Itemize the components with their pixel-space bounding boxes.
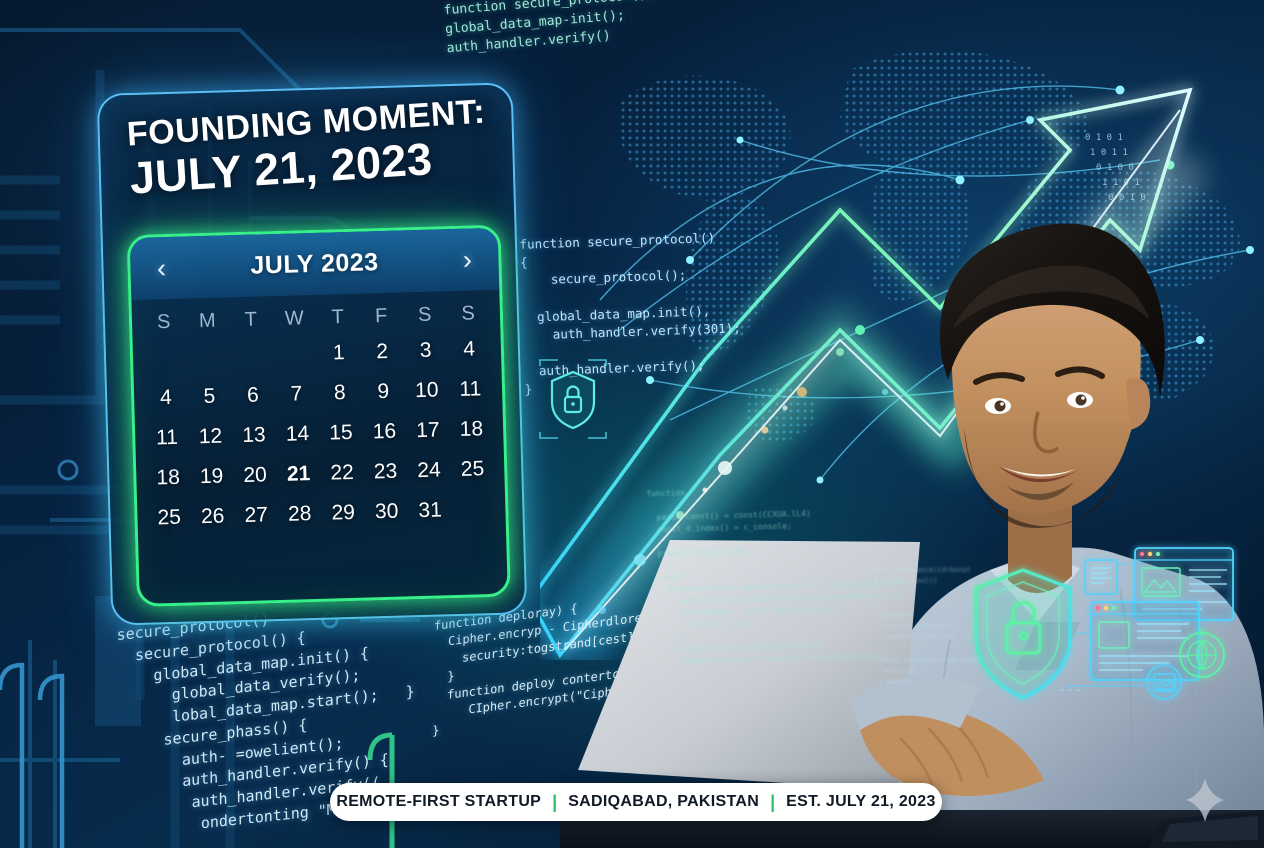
- calendar-day-28[interactable]: 28: [277, 494, 322, 535]
- calendar-day-11[interactable]: 11: [448, 369, 493, 410]
- banner-part-2: SADIQABAD, PAKISTAN: [568, 793, 759, 811]
- calendar-day-empty: [186, 336, 231, 377]
- svg-text:1 0 1 1: 1 0 1 1: [1090, 148, 1128, 158]
- calendar-day-empty: [451, 489, 496, 530]
- sparkle-icon: [1186, 778, 1224, 822]
- calendar-day-27[interactable]: 27: [234, 495, 279, 536]
- calendar-day-24[interactable]: 24: [407, 450, 452, 491]
- calendar-day-25[interactable]: 25: [147, 497, 192, 538]
- calendar-day-9[interactable]: 9: [361, 371, 406, 412]
- calendar-day-11[interactable]: 11: [145, 417, 190, 458]
- calendar-day-29[interactable]: 29: [321, 493, 366, 534]
- calendar-day-7[interactable]: 7: [274, 374, 319, 415]
- calendar-day-18[interactable]: 18: [449, 409, 494, 450]
- calendar-day-4[interactable]: 4: [144, 377, 189, 418]
- calendar-day-10[interactable]: 10: [405, 370, 450, 411]
- shield-lock-big: [976, 570, 1070, 698]
- calendar-day-16[interactable]: 16: [362, 411, 407, 452]
- calendar-month-year: JULY 2023: [174, 245, 455, 282]
- holographic-ui-cluster: [955, 540, 1245, 730]
- founder-photo: [560, 170, 1264, 848]
- calendar-day-1[interactable]: 1: [316, 333, 361, 374]
- calendar-day-6[interactable]: 6: [231, 375, 276, 416]
- document-window: [1085, 560, 1117, 594]
- calendar-day-14[interactable]: 14: [275, 414, 320, 455]
- info-banner: REMOTE-FIRST STARTUP | SADIQABAD, PAKIST…: [330, 783, 942, 821]
- calendar-day-30[interactable]: 30: [364, 491, 409, 532]
- calendar-weekday-2: T: [229, 308, 273, 332]
- glass-card-panel: FOUNDING MOMENT: JULY 21, 2023 ‹ JULY 20…: [97, 82, 528, 625]
- calendar-day-13[interactable]: 13: [232, 415, 277, 456]
- calendar-weekday-3: W: [272, 307, 316, 331]
- banner-separator-1: |: [552, 792, 557, 813]
- calendar-day-18[interactable]: 18: [146, 457, 191, 498]
- calendar-day-8[interactable]: 8: [318, 373, 363, 414]
- calendar-weekday-0: S: [142, 311, 186, 335]
- calendar-weekday-4: T: [316, 306, 360, 330]
- calendar-next-month-icon[interactable]: ›: [454, 246, 481, 274]
- calendar-day-31[interactable]: 31: [408, 490, 453, 531]
- calendar-weekday-1: M: [185, 309, 229, 333]
- calendar-day-17[interactable]: 17: [406, 410, 451, 451]
- banner-part-3: EST. JULY 21, 2023: [786, 793, 936, 811]
- calendar-day-26[interactable]: 26: [190, 496, 235, 537]
- calendar-day-3[interactable]: 3: [403, 330, 448, 371]
- calendar-day-15[interactable]: 15: [319, 413, 364, 454]
- calendar-day-20[interactable]: 20: [233, 455, 278, 496]
- calendar-day-5[interactable]: 5: [187, 376, 232, 417]
- calendar-widget[interactable]: ‹ JULY 2023 › SMTWTFSS 12344567891011111…: [127, 225, 511, 607]
- banner-separator-2: |: [770, 792, 775, 813]
- calendar-day-22[interactable]: 22: [320, 453, 365, 494]
- headline-block: FOUNDING MOMENT: JULY 21, 2023: [126, 94, 491, 200]
- calendar-day-empty: [273, 334, 318, 375]
- calendar-day-25[interactable]: 25: [450, 449, 495, 490]
- calendar-prev-month-icon[interactable]: ‹: [148, 254, 175, 282]
- browser-window-main: [1091, 602, 1199, 680]
- calendar-day-empty: [229, 335, 274, 376]
- calendar-weekday-7: S: [446, 302, 490, 326]
- banner-part-1: REMOTE-FIRST STARTUP: [336, 793, 541, 811]
- poster-canvas: 0 1 0 1 1 0 1 1 0 1 0 0 1 1 0 1 0 0 1 0: [0, 0, 1264, 848]
- calendar-day-12[interactable]: 12: [188, 416, 233, 457]
- calendar-day-19[interactable]: 19: [189, 456, 234, 497]
- calendar-weekday-6: S: [403, 303, 447, 327]
- calendar-day-4[interactable]: 4: [447, 329, 492, 370]
- calendar-day-grid[interactable]: 1234456789101111121314151617181819202122…: [132, 327, 506, 549]
- calendar-day-empty: [143, 338, 188, 379]
- svg-text:0 1 0 1: 0 1 0 1: [1085, 133, 1123, 143]
- calendar-weekday-5: F: [359, 304, 403, 328]
- calendar-day-23[interactable]: 23: [363, 451, 408, 492]
- calendar-day-selected[interactable]: 21: [276, 454, 321, 495]
- calendar-day-2[interactable]: 2: [360, 331, 405, 372]
- calendar-header: ‹ JULY 2023 ›: [130, 228, 500, 300]
